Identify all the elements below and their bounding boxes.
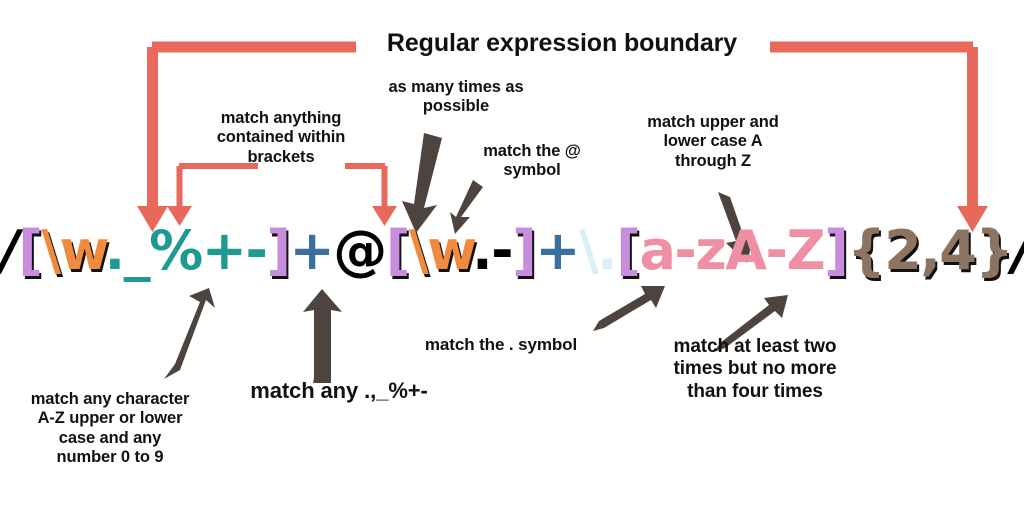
- annotation-upper-lower: match upper and lower case A through Z: [620, 113, 806, 171]
- page-title: Regular expression boundary: [362, 30, 762, 58]
- regex-token-char-class-open-13: [: [616, 219, 639, 282]
- regex-token-repetition-quantifier-16: {2,4}: [847, 219, 1012, 282]
- regex-token-letter-range-14: a-zA-Z: [639, 219, 824, 282]
- regex-token-literal-symbols-9: .-: [472, 219, 512, 282]
- regex-token-word-character-class-8: \w: [409, 219, 472, 282]
- regex-expression: /[\w._%+-]+@[\w.-]+\.[a-zA-Z]{2,4}/: [0, 224, 1024, 278]
- annotation-dot-symbol: match the . symbol: [386, 335, 616, 355]
- regex-token-char-class-close-15: ]: [824, 219, 847, 282]
- regex-token-char-class-open-7: [: [386, 219, 409, 282]
- arrow-dot-symbol: [593, 286, 665, 331]
- regex-token-one-or-more-quantifier-11: +: [535, 219, 579, 282]
- regex-token-one-or-more-quantifier-5: +: [290, 219, 334, 282]
- annotation-many-times: as many times as possible: [366, 78, 546, 117]
- regex-token-char-class-open-1: [: [18, 219, 41, 282]
- arrow-any-symbol: [303, 289, 342, 383]
- annotation-at-least: match at least two times but no more tha…: [640, 336, 870, 403]
- annotation-any-character: match any character A-Z upper or lower c…: [4, 390, 216, 468]
- annotation-at-symbol: match the @ symbol: [452, 142, 612, 181]
- annotation-brackets: match anything contained within brackets: [196, 109, 366, 167]
- regex-token-char-class-close-4: ]: [266, 219, 289, 282]
- annotation-any-symbol: match any .,_%+-: [214, 378, 464, 404]
- regex-token-escaped-dot-literal-12: \.: [579, 219, 616, 282]
- regex-token-close-delimiter-17: /: [1012, 219, 1024, 282]
- regex-token-at-symbol-literal-6: @: [333, 219, 386, 282]
- regex-token-word-character-class-2: \w: [41, 219, 104, 282]
- regex-diagram: Regular expression boundary match anythi…: [0, 0, 1024, 522]
- regex-token-open-delimiter-0: /: [0, 219, 18, 282]
- regex-token-char-class-close-10: ]: [512, 219, 535, 282]
- regex-token-literal-symbols-3: ._%+-: [105, 219, 267, 282]
- arrow-any-character: [164, 288, 215, 379]
- arrow-many-times: [402, 133, 442, 233]
